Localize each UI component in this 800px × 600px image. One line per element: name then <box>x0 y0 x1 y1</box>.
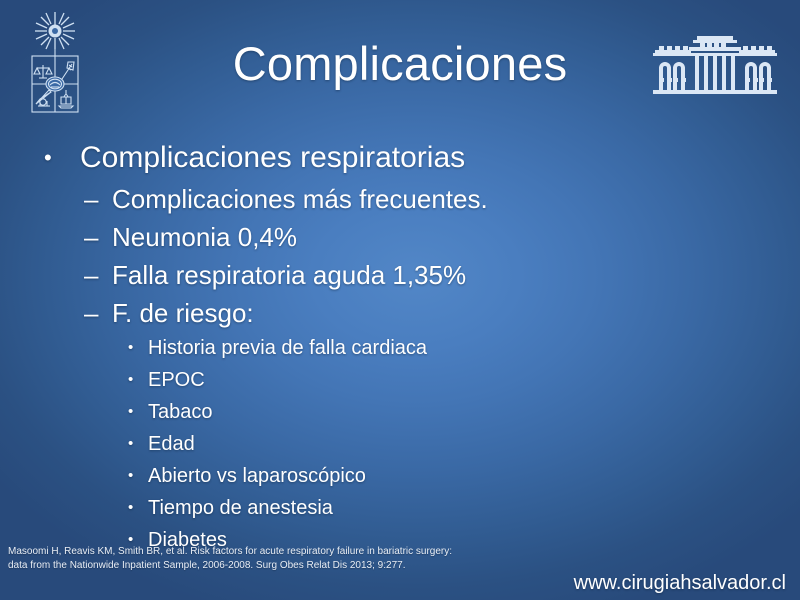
bullet-marker-dot: • <box>44 136 52 180</box>
bullet-marker-dot: • <box>128 332 133 364</box>
footer-website: www.cirugiahsalvador.cl <box>574 572 786 595</box>
bullet-marker-dot: • <box>128 428 133 460</box>
slide-title: Complicaciones <box>0 38 800 90</box>
bullet-marker-dash: – <box>84 180 98 218</box>
bullet-level2-text: F. de riesgo: <box>112 298 254 328</box>
bullet-level2-text: Neumonia 0,4% <box>112 222 297 252</box>
bullet-marker-dash: – <box>84 294 98 332</box>
bullet-level3-text: Tabaco <box>148 401 213 423</box>
bullet-level3: • Tabaco <box>0 396 800 428</box>
bullet-level3: • Abierto vs laparoscópico <box>0 460 800 492</box>
bullet-level2: – F. de riesgo: <box>0 294 800 332</box>
bullet-level3-text: Edad <box>148 433 195 455</box>
bullet-marker-dash: – <box>84 218 98 256</box>
citation-line-2: data from the Nationwide Inpatient Sampl… <box>8 559 548 573</box>
slide: Complicaciones • Complicaciones respirat… <box>0 0 800 600</box>
citation: Masoomi H, Reavis KM, Smith BR, et al. R… <box>8 545 548 572</box>
bullet-marker-dot: • <box>128 364 133 396</box>
bullet-level1-text: Complicaciones respiratorias <box>80 141 465 174</box>
bullet-level3-text: EPOC <box>148 369 205 391</box>
bullet-level3-text: Tiempo de anestesia <box>148 497 333 519</box>
bullet-level3-text: Abierto vs laparoscópico <box>148 465 366 487</box>
bullet-level2-text: Complicaciones más frecuentes. <box>112 184 488 214</box>
bullet-level3: • EPOC <box>0 364 800 396</box>
bullet-level1: • Complicaciones respiratorias <box>0 136 800 180</box>
bullet-marker-dash: – <box>84 256 98 294</box>
bullet-level3: • Historia previa de falla cardiaca <box>0 332 800 364</box>
bullet-level2: – Falla respiratoria aguda 1,35% <box>0 256 800 294</box>
bullet-level2-text: Falla respiratoria aguda 1,35% <box>112 260 466 290</box>
bullet-level3: • Tiempo de anestesia <box>0 492 800 524</box>
bullet-marker-dot: • <box>128 460 133 492</box>
citation-line-1: Masoomi H, Reavis KM, Smith BR, et al. R… <box>8 545 548 559</box>
bullet-marker-dot: • <box>128 396 133 428</box>
bullet-marker-dot: • <box>128 492 133 524</box>
bullet-level3-text: Historia previa de falla cardiaca <box>148 337 427 359</box>
bullet-level2: – Complicaciones más frecuentes. <box>0 180 800 218</box>
bullet-level3: • Edad <box>0 428 800 460</box>
slide-body: • Complicaciones respiratorias – Complic… <box>0 136 800 556</box>
bullet-level2: – Neumonia 0,4% <box>0 218 800 256</box>
